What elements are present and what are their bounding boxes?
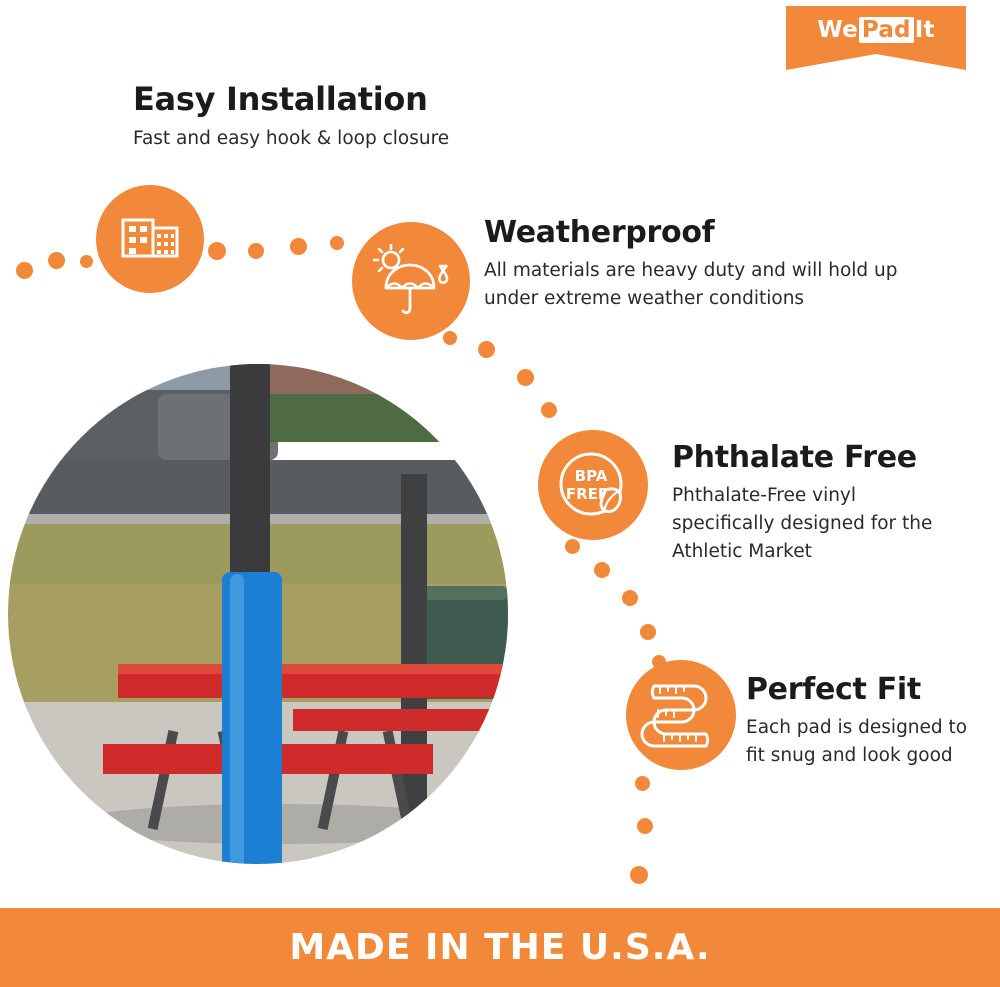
photo-picnic-table-edge [118, 664, 508, 674]
bpa-free-leaf-icon: BPA FREE [538, 430, 648, 540]
path-dot [208, 242, 226, 260]
path-dot [48, 252, 65, 269]
product-photo [8, 364, 508, 864]
feature-title-phthalate-free: Phthalate Free [672, 440, 917, 475]
path-dot [517, 369, 534, 386]
logo-badge-word: Pad [859, 17, 914, 43]
path-dot [478, 341, 495, 358]
path-dot [541, 402, 557, 418]
path-dot [330, 236, 344, 250]
logo-banner-tail [786, 54, 966, 70]
footer-banner: MADE IN THE U.S.A. [0, 908, 1000, 987]
path-dot [637, 818, 653, 834]
path-dot [565, 539, 580, 554]
path-dot [290, 238, 307, 255]
logo-suffix: It [915, 17, 935, 43]
path-dot [16, 262, 33, 279]
path-dot [652, 655, 666, 669]
feature-desc-weatherproof: All materials are heavy duty and will ho… [484, 257, 914, 313]
footer-text: MADE IN THE U.S.A. [289, 927, 710, 968]
photo-hedge [258, 394, 508, 442]
infographic-canvas: WePadIt Easy Installation Fast and easy … [0, 0, 1000, 987]
building-install-icon [96, 185, 204, 293]
path-dot [594, 562, 610, 578]
logo-prefix: We [817, 17, 858, 43]
logo-text: WePadIt [817, 17, 934, 43]
path-dot [640, 624, 656, 640]
feature-desc-phthalate-free: Phthalate-Free vinyl specifically design… [672, 482, 942, 566]
feature-title-easy-installation: Easy Installation [133, 80, 428, 118]
photo-trash-barrel-lid [413, 586, 508, 600]
photo-scene [8, 364, 508, 864]
photo-blue-post-pad-highlight [230, 574, 244, 864]
feature-title-weatherproof: Weatherproof [484, 215, 714, 250]
feature-desc-perfect-fit: Each pad is designed to fit snug and loo… [746, 714, 976, 770]
path-dot [248, 243, 264, 259]
path-dot [443, 331, 457, 345]
path-dot [635, 776, 650, 791]
brand-logo: WePadIt [786, 6, 966, 54]
tape-measure-icon [626, 660, 736, 770]
feature-desc-easy-installation: Fast and easy hook & loop closure [133, 126, 449, 152]
path-dot [622, 590, 638, 606]
path-dot [630, 866, 648, 884]
sun-umbrella-rain-icon [352, 222, 470, 340]
path-dot [80, 255, 93, 268]
photo-bench-far [293, 709, 508, 731]
feature-title-perfect-fit: Perfect Fit [746, 672, 921, 707]
svg-text:BPA: BPA [575, 467, 608, 485]
